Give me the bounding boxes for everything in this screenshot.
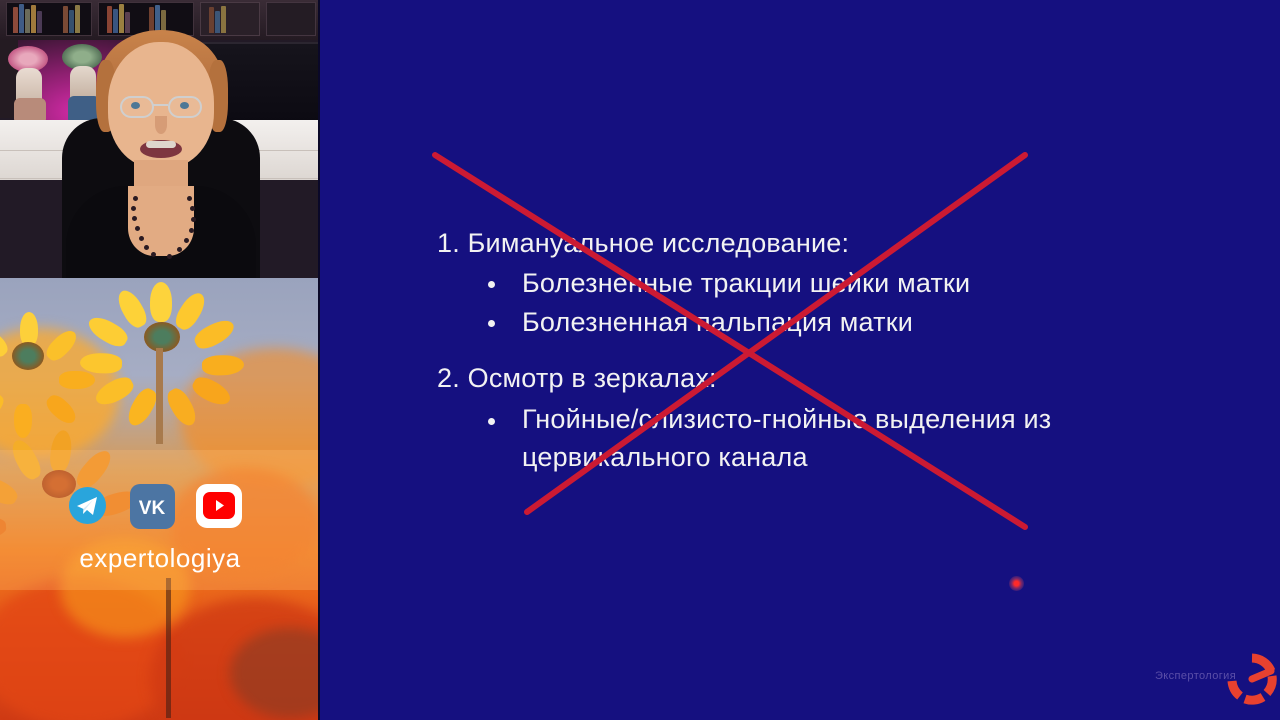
play-triangle-icon — [203, 492, 235, 519]
planter-body-left — [14, 98, 46, 122]
slide-item-2-bullet-1: Гнойные/слизисто-гнойные выделения из — [522, 404, 1051, 435]
red-cross-out-annotation — [320, 0, 1280, 720]
slide-item-2-heading: 2. Осмотр в зеркалах: — [437, 363, 717, 394]
laser-pointer-dot — [1009, 576, 1024, 591]
webcam-video[interactable] — [0, 0, 320, 278]
slide-item-2-bullet-1-cont: цервикального канала — [522, 442, 808, 473]
brand-name: expertologiya — [0, 543, 320, 574]
daisy-main — [92, 284, 232, 394]
nose — [155, 116, 167, 134]
telegram-icon[interactable] — [69, 487, 106, 524]
vk-glyph: VK — [130, 484, 175, 529]
chest — [128, 186, 194, 256]
bullet-marker — [488, 418, 495, 425]
watermark-ring-icon — [1225, 652, 1279, 706]
svg-text:VK: VK — [139, 498, 166, 519]
teeth — [146, 141, 176, 148]
bullet-marker — [488, 281, 495, 288]
shelf-pane — [6, 2, 92, 36]
slide-item-1-bullet-1: Болезненные тракции шейки матки — [522, 268, 970, 299]
watermark: Экспертология — [1155, 648, 1280, 712]
slide-item-1-bullet-2: Болезненная пальпация матки — [522, 307, 913, 338]
youtube-play-glyph — [203, 492, 235, 519]
slide-item-1-heading: 1. Бимануальное исследование: — [437, 228, 849, 259]
daisy-left — [0, 312, 90, 408]
telegram-glyph — [69, 487, 106, 524]
presenter-panel: VK expertologiya — [0, 0, 320, 720]
presentation-slide: 1. Бимануальное исследование: Болезненны… — [320, 0, 1280, 720]
vk-icon[interactable]: VK — [130, 484, 175, 529]
watermark-text: Экспертология — [1155, 670, 1236, 682]
bullet-marker — [488, 320, 495, 327]
glasses-bridge — [152, 104, 168, 106]
glasses-left — [120, 96, 154, 118]
glasses-right — [168, 96, 202, 118]
shelf-pane — [266, 2, 316, 36]
shelf-pane — [200, 2, 260, 36]
screen: VK expertologiya 1. Бимануальное исследо… — [0, 0, 1280, 720]
